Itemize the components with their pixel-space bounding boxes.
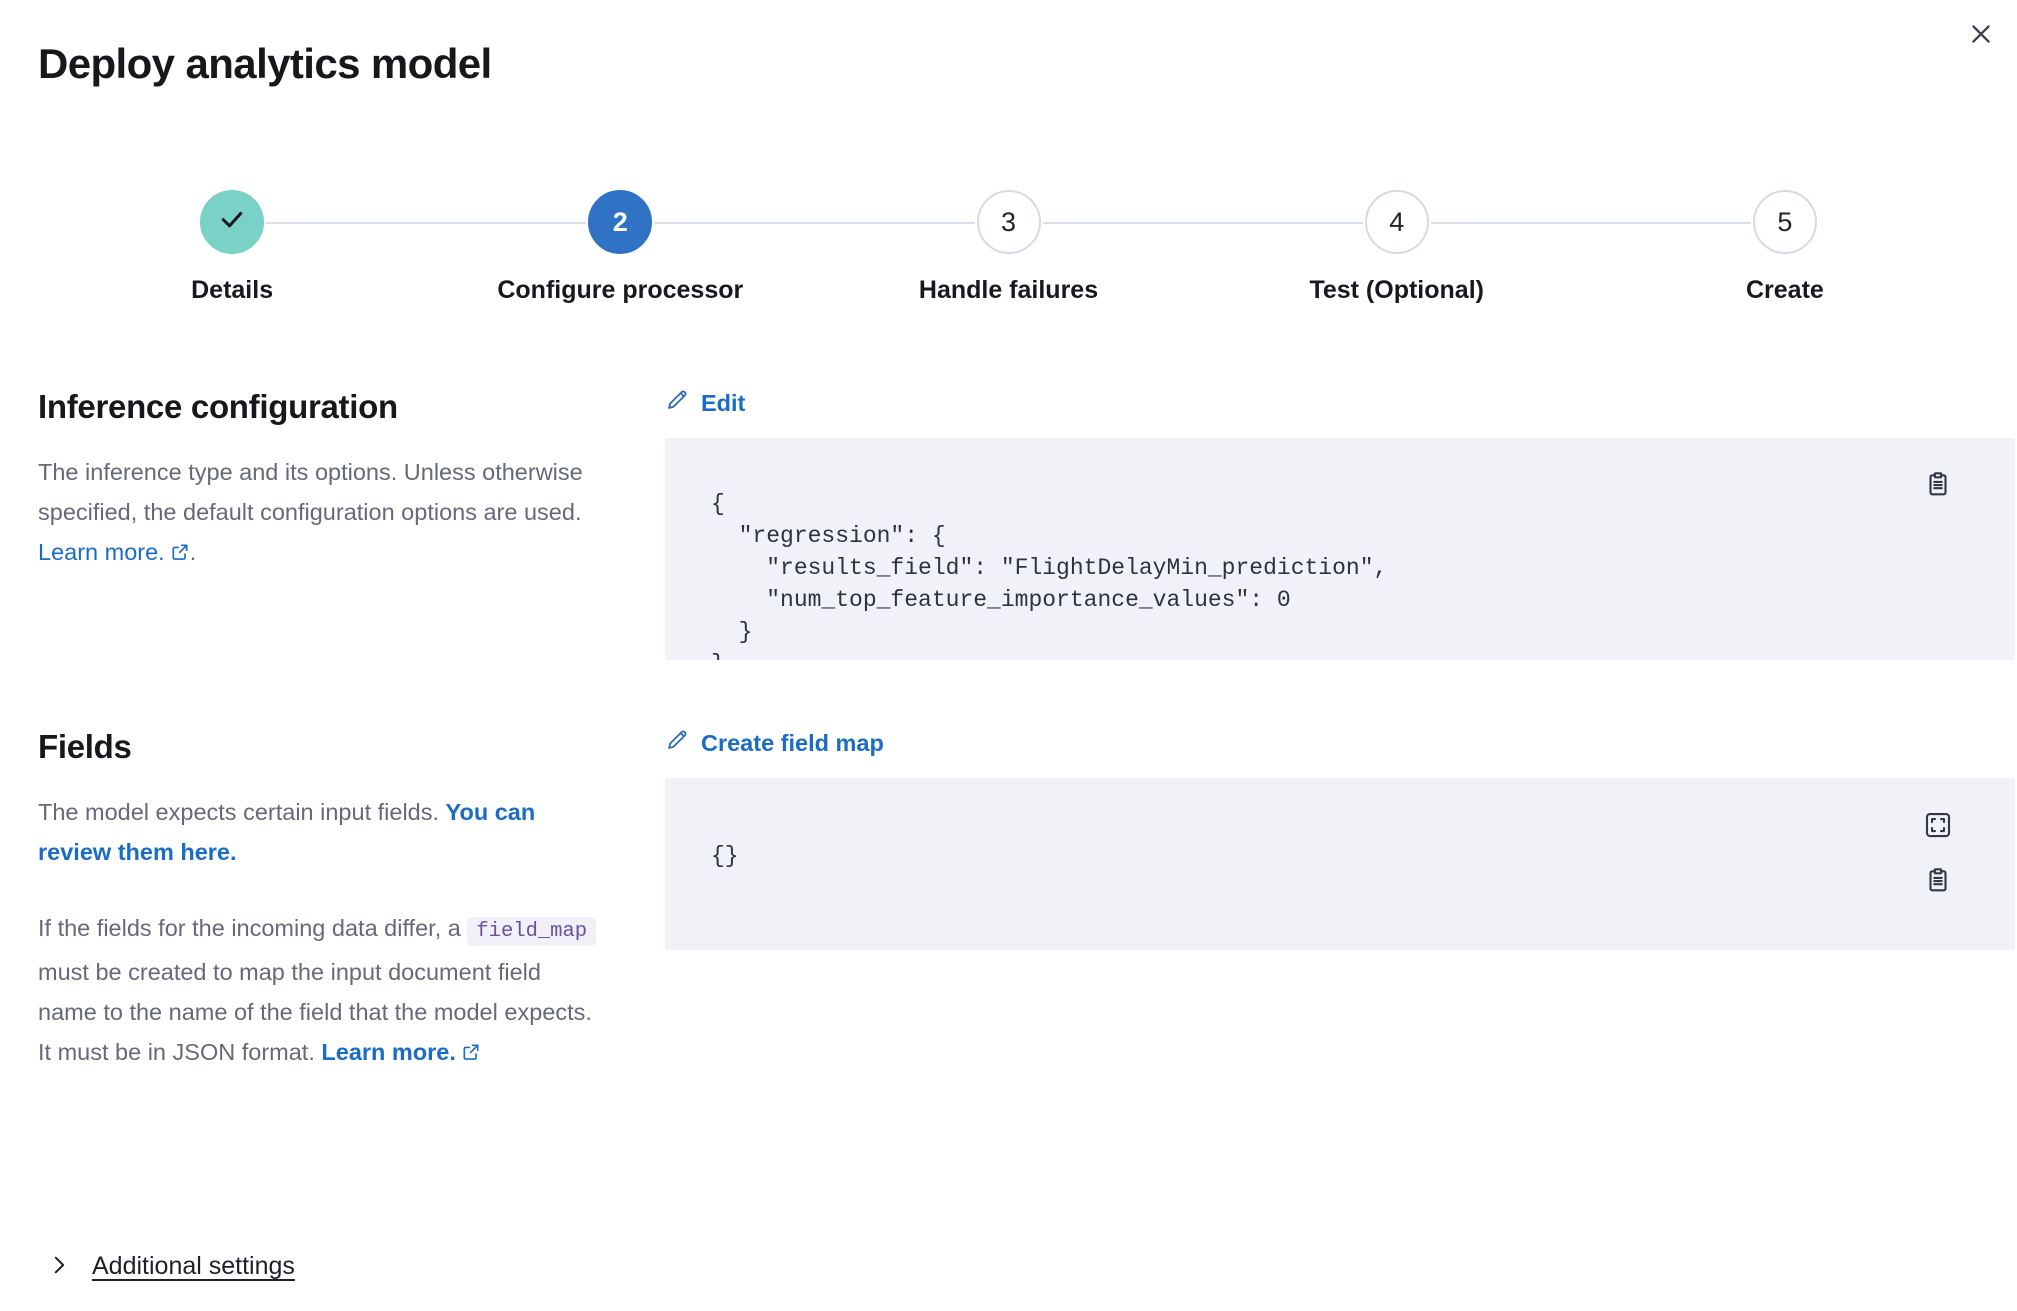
step-5-label: Create [1746,276,1824,305]
step-4-test-optional[interactable]: 4 Test (Optional) [1203,190,1591,305]
fields-title: Fields [38,728,605,766]
step-connector [1203,222,1363,224]
fields-learn-more-link[interactable]: Learn more. [321,1039,456,1065]
copy-inference-config-button[interactable] [1923,470,1953,500]
pencil-icon [665,388,689,418]
check-icon [217,204,247,241]
external-link-icon [461,1034,481,1074]
fields-desc-text: The model expects certain input fields. [38,799,446,825]
inference-config-code: { "regression": { "results_field": "Flig… [711,482,1975,660]
step-2-circle: 2 [588,190,652,254]
step-connector [1591,222,1751,224]
step-3-circle: 3 [977,190,1041,254]
field-map-code-tools [1923,810,1953,896]
clipboard-copy-icon [1923,488,1953,503]
create-field-map-label: Create field map [701,730,884,757]
inference-desc-text: The inference type and its options. Unle… [38,459,583,525]
edit-inference-config-label: Edit [701,390,745,417]
fields-description-column: Fields The model expects certain input f… [38,728,665,1074]
inference-code-tools [1923,470,1953,500]
chevron-right-icon [48,1254,70,1279]
step-4-circle: 4 [1365,190,1429,254]
additional-settings-label: Additional settings [92,1252,295,1281]
step-1-label: Details [191,276,273,305]
inference-configuration-title: Inference configuration [38,388,605,426]
fields-desc2-mid: must be created to map the input documen… [38,959,592,1065]
edit-inference-config-button[interactable]: Edit [665,388,745,418]
step-connector [654,222,814,224]
step-connector [266,222,426,224]
field-map-code-token: field_map [467,917,596,946]
inference-configuration-editor-column: Edit { "regression": { "results_field": … [665,388,2017,660]
fields-description-1: The model expects certain input fields. … [38,792,605,872]
step-2-configure-processor[interactable]: 2 Configure processor [426,190,814,305]
close-icon [1968,21,1994,47]
step-connector [426,222,586,224]
step-connector [814,222,974,224]
field-map-code: {} [711,822,1975,872]
field-map-code-block[interactable]: {} [665,778,2015,950]
step-connector [1043,222,1203,224]
step-connector [1431,222,1591,224]
step-5-create[interactable]: 5 Create [1591,190,1979,305]
expand-field-map-button[interactable] [1923,810,1953,840]
step-1-circle [200,190,264,254]
page-title: Deploy analytics model [38,40,492,88]
expand-icon [1923,828,1953,843]
step-3-label: Handle failures [919,276,1098,305]
step-4-label: Test (Optional) [1309,276,1484,305]
step-5-circle: 5 [1753,190,1817,254]
step-2-label: Configure processor [497,276,743,305]
step-1-details[interactable]: Details [38,190,426,305]
section-spacer [38,660,2017,728]
inference-config-code-block[interactable]: { "regression": { "results_field": "Flig… [665,438,2015,660]
inference-configuration-description-column: Inference configuration The inference ty… [38,388,665,574]
create-field-map-button[interactable]: Create field map [665,728,884,758]
step-3-handle-failures[interactable]: 3 Handle failures [814,190,1202,305]
clipboard-copy-icon [1923,884,1953,899]
fields-editor-column: Create field map {} [665,728,2017,950]
fields-description-2: If the fields for the incoming data diff… [38,908,605,1074]
external-link-icon [170,534,190,574]
close-button[interactable] [1959,12,2003,56]
fields-desc2-lead: If the fields for the incoming data diff… [38,915,467,941]
form-content: Inference configuration The inference ty… [38,388,2017,1074]
inference-configuration-description: The inference type and its options. Unle… [38,452,605,574]
fields-section: Fields The model expects certain input f… [38,728,2017,1074]
deploy-analytics-model-flyout: Deploy analytics model Details 2 Configu… [0,0,2017,1311]
inference-configuration-section: Inference configuration The inference ty… [38,388,2017,660]
inference-learn-more-link[interactable]: Learn more. [38,539,165,565]
wizard-stepper: Details 2 Configure processor 3 Handle f… [38,190,1979,305]
copy-field-map-button[interactable] [1923,866,1953,896]
pencil-icon [665,728,689,758]
additional-settings-accordion[interactable]: Additional settings [48,1252,295,1281]
inference-desc-tail: . [190,539,197,565]
